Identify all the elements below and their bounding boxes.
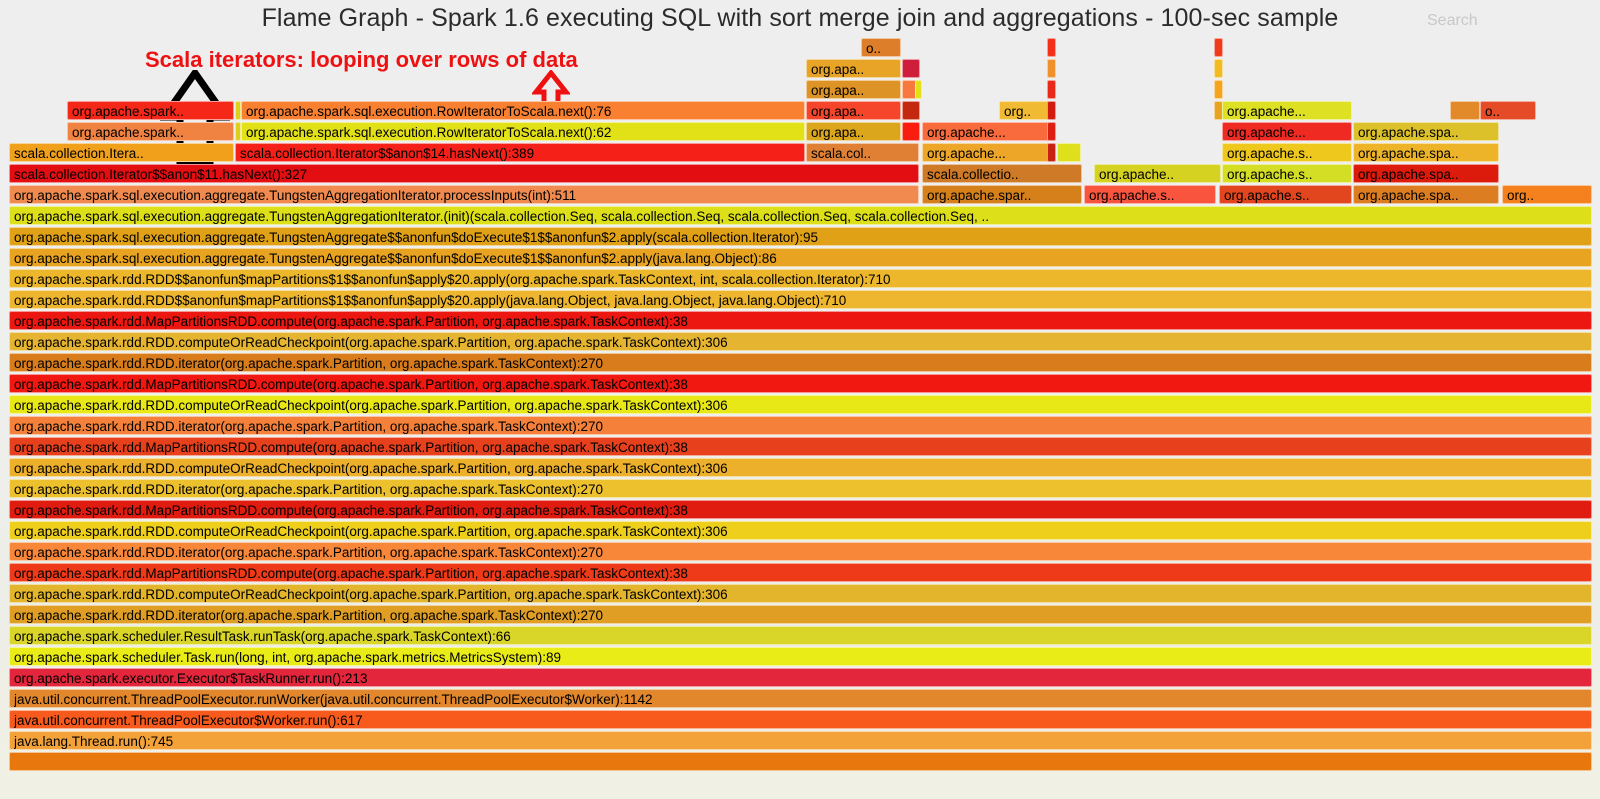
flame-frame-label: org.apache.spark.rdd.RDD.iterator(org.ap… [14,543,1591,561]
flame-frame-label: org.apache.spark.scheduler.ResultTask.ru… [14,627,1591,645]
flame-frame[interactable]: org.apache.spark.rdd.RDD.computeOrReadCh… [9,458,1592,477]
flame-frame[interactable]: org.apache.spark.rdd.MapPartitionsRDD.co… [9,437,1592,456]
flame-frame[interactable]: org.. [999,101,1049,120]
flame-frame-label: org.apache.spark.sql.execution.RowIterat… [246,102,804,120]
flame-frame[interactable]: org.apache.spark.sql.execution.RowIterat… [241,122,805,141]
flame-frame[interactable]: org.apache.spark.sql.execution.aggregate… [9,248,1592,267]
flame-frame[interactable]: org.apache.spark.rdd.RDD.iterator(org.ap… [9,353,1592,372]
flame-frame[interactable]: org.apache.spark.rdd.RDD.iterator(org.ap… [9,605,1592,624]
flame-frame-label: org.apache.spark.rdd.RDD.computeOrReadCh… [14,459,1591,477]
flame-frame[interactable] [1214,80,1223,99]
flame-frame-label: org.apache.spark.sql.execution.aggregate… [14,228,1591,246]
flame-frame-label: org.apache.spark.rdd.RDD.iterator(org.ap… [14,606,1591,624]
flame-frame[interactable]: org.apa.. [806,59,901,78]
flame-frame[interactable]: org.apache.spar.. [922,185,1082,204]
flame-frame[interactable]: org.apa.. [806,101,901,120]
flame-frame[interactable] [9,752,1592,771]
flame-frame[interactable] [1047,80,1056,99]
flame-frame[interactable]: org.apache.spark.rdd.MapPartitionsRDD.co… [9,563,1592,582]
flame-frame[interactable]: org.apache.spark.sql.execution.aggregate… [9,206,1592,225]
flame-frame[interactable]: org.apache... [1222,122,1352,141]
flame-frame[interactable]: scala.collection.Itera.. [9,143,234,162]
flame-frame-label: scala.collection.Iterator$$anon$11.hasNe… [14,165,918,183]
flame-frame-label: org.apache... [927,144,1048,162]
flame-frame[interactable]: org.apache.s.. [1222,164,1352,183]
flame-frame-label: org.apache.spark.rdd.RDD$$anonfun$mapPar… [14,291,1591,309]
flame-frame-label: org.apache.spark.sql.execution.aggregate… [14,207,1591,225]
flame-frame-label: org.apache.s.. [1227,165,1351,183]
flame-frame[interactable]: org.apa.. [806,80,901,99]
flame-frame[interactable]: org.apache.spa.. [1353,143,1499,162]
flame-frame[interactable]: scala.collection.Iterator$$anon$14.hasNe… [235,143,805,162]
flame-frame-label: org.apache.spark.. [72,123,233,141]
flame-frame[interactable] [1214,38,1223,57]
flame-frame-label: org.apache.spark.rdd.RDD.iterator(org.ap… [14,417,1591,435]
flame-frame[interactable] [1047,38,1056,57]
flame-frame-label: o.. [866,39,900,57]
flame-frame-label: org.apache.spark.sql.execution.aggregate… [14,186,918,204]
flame-frame[interactable]: org.apache.spark.rdd.RDD.computeOrReadCh… [9,584,1592,603]
flame-frame-label: org.apache.s.. [1089,186,1215,204]
flame-frame[interactable]: o.. [1480,101,1536,120]
flame-frame-label: o.. [1485,102,1535,120]
flame-frame[interactable]: org.apache.spark.sql.execution.RowIterat… [241,101,805,120]
flame-frame-label: scala.collection.Itera.. [14,144,233,162]
flame-frame-label: org.apache.spark.rdd.RDD.iterator(org.ap… [14,354,1591,372]
flame-frame-label: org.apache.spark.rdd.MapPartitionsRDD.co… [14,438,1591,456]
flame-frame[interactable]: org.apache.spark.. [67,122,234,141]
flame-frame[interactable]: scala.col.. [806,143,919,162]
flame-frame[interactable]: org.apache.spark.. [67,101,234,120]
flame-frame-label: scala.collection.Iterator$$anon$14.hasNe… [240,144,804,162]
flame-frame-label: org.apache.spark.rdd.MapPartitionsRDD.co… [14,375,1591,393]
flame-frame[interactable]: org.apache.spark.rdd.RDD.computeOrReadCh… [9,521,1592,540]
flame-frame[interactable]: org.apache.s.. [1222,143,1352,162]
flame-frame[interactable]: org.apache.s.. [1084,185,1216,204]
flame-frame[interactable]: org.apache.spark.sql.execution.aggregate… [9,227,1592,246]
flame-frame-label: org.apache.spark.scheduler.Task.run(long… [14,648,1591,666]
flame-frame-label: java.util.concurrent.ThreadPoolExecutor$… [14,711,1591,729]
flame-frame[interactable]: org.apache.spark.rdd.RDD$$anonfun$mapPar… [9,269,1592,288]
flame-frame[interactable]: org.apache.spark.rdd.MapPartitionsRDD.co… [9,374,1592,393]
flamegraph-frames: o..org.apa..org.apa..org.apache.spark..o… [0,0,1600,799]
flame-frame-label: org.apa.. [811,60,900,78]
flame-frame-label: org.apache.spark.rdd.RDD$$anonfun$mapPar… [14,270,1591,288]
flame-frame-label: java.util.concurrent.ThreadPoolExecutor.… [14,690,1591,708]
flame-frame-label: org.apache.spark.executor.Executor$TaskR… [14,669,1591,687]
flame-frame[interactable] [1047,101,1056,120]
flame-frame[interactable]: java.util.concurrent.ThreadPoolExecutor.… [9,689,1592,708]
flame-frame[interactable] [1057,143,1081,162]
flame-frame-label: org.apache.. [1099,165,1220,183]
flame-frame-label: org.apache.spa.. [1358,123,1498,141]
flame-frame[interactable]: org.apache... [922,143,1049,162]
flame-frame[interactable]: org.apache.spark.rdd.MapPartitionsRDD.co… [9,311,1592,330]
flame-frame[interactable]: org.apache.spark.rdd.RDD.computeOrReadCh… [9,395,1592,414]
flame-frame[interactable]: java.util.concurrent.ThreadPoolExecutor$… [9,710,1592,729]
flame-frame-label: org.apache.spark.rdd.MapPartitionsRDD.co… [14,564,1591,582]
flame-frame-label: java.lang.Thread.run():745 [14,732,1591,750]
flame-frame-label: org.apache.s.. [1227,144,1351,162]
flame-frame[interactable]: org.apache.spark.sql.execution.aggregate… [9,185,919,204]
flame-frame[interactable]: org.apache.spark.rdd.RDD.iterator(org.ap… [9,416,1592,435]
flame-frame[interactable] [1047,143,1056,162]
flame-frame-label: org.apache.spark.rdd.RDD.computeOrReadCh… [14,333,1591,351]
flame-frame-label: org.apache... [1227,123,1351,141]
flame-frame-label: org.apache.spa.. [1358,165,1498,183]
flame-frame[interactable]: org.apache.spark.rdd.MapPartitionsRDD.co… [9,500,1592,519]
flame-frame[interactable] [902,122,920,141]
flame-frame[interactable] [1214,59,1223,78]
flame-frame-label: scala.collectio.. [927,165,1081,183]
flame-frame[interactable]: org.. [1502,185,1592,204]
flame-frame[interactable]: org.apache.spa.. [1353,122,1499,141]
flame-frame-label: org.apache.s.. [1224,186,1351,204]
flame-frame[interactable]: org.apache.spark.scheduler.ResultTask.ru… [9,626,1592,645]
flame-frame[interactable]: org.apache... [1222,101,1352,120]
flame-frame[interactable]: org.apa.. [806,122,901,141]
flame-frame-label: org.apache... [927,123,1048,141]
flame-frame[interactable]: org.apache.spark.rdd.RDD.iterator(org.ap… [9,479,1592,498]
flame-frame-label: org.apache.spark.rdd.RDD.computeOrReadCh… [14,522,1591,540]
flame-frame-label: org.apache.spark.sql.execution.aggregate… [14,249,1591,267]
flame-frame-label: org.apa.. [811,81,900,99]
flame-frame[interactable]: org.apache.spark.scheduler.Task.run(long… [9,647,1592,666]
flame-frame[interactable]: org.apache.spa.. [1353,185,1499,204]
flame-frame[interactable] [915,80,922,99]
flame-frame[interactable]: org.apache.spark.executor.Executor$TaskR… [9,668,1592,687]
flame-frame[interactable]: scala.collectio.. [922,164,1082,183]
flame-frame-label: org.apa.. [811,123,900,141]
flame-frame-label: org.apache.spark.rdd.MapPartitionsRDD.co… [14,501,1591,519]
flame-frame-label: org.apache... [1227,102,1351,120]
flame-frame[interactable] [1047,59,1056,78]
flame-frame-label: scala.col.. [811,144,918,162]
flame-frame[interactable]: org.apache.spark.rdd.RDD.computeOrReadCh… [9,332,1592,351]
flame-frame[interactable]: org.apache.spa.. [1353,164,1499,183]
flame-frame[interactable]: scala.collection.Iterator$$anon$11.hasNe… [9,164,919,183]
flame-frame-label: org.apa.. [811,102,900,120]
flame-frame[interactable] [902,101,920,120]
flame-frame[interactable] [902,59,920,78]
flame-frame[interactable] [1450,101,1480,120]
flame-frame-label: org.apache.spa.. [1358,186,1498,204]
flame-frame-label: org.apache.spa.. [1358,144,1498,162]
flame-frame-label: org.apache.spark.rdd.MapPartitionsRDD.co… [14,312,1591,330]
flame-frame[interactable]: org.apache.s.. [1219,185,1352,204]
flame-frame[interactable]: java.lang.Thread.run():745 [9,731,1592,750]
flame-frame-label: org.apache.spark.rdd.RDD.computeOrReadCh… [14,585,1591,603]
flame-frame-label: org.apache.spar.. [927,186,1081,204]
flame-frame-label: org.apache.spark.rdd.RDD.computeOrReadCh… [14,396,1591,414]
flame-frame-label: org.apache.spark.rdd.RDD.iterator(org.ap… [14,480,1591,498]
flame-frame[interactable]: org.apache... [922,122,1049,141]
flame-frame[interactable]: o.. [861,38,901,57]
flame-frame[interactable] [1047,122,1056,141]
flame-frame-label: org.apache.spark.sql.execution.RowIterat… [246,123,804,141]
flame-frame-label: org.. [1004,102,1048,120]
flame-frame-label: org.apache.spark.. [72,102,233,120]
flame-frame[interactable]: org.apache.spark.rdd.RDD.iterator(org.ap… [9,542,1592,561]
flame-frame-label: org.. [1507,186,1591,204]
flame-frame[interactable]: org.apache.spark.rdd.RDD$$anonfun$mapPar… [9,290,1592,309]
flamegraph-page: Flame Graph - Spark 1.6 executing SQL wi… [0,0,1600,799]
flame-frame[interactable]: org.apache.. [1094,164,1221,183]
